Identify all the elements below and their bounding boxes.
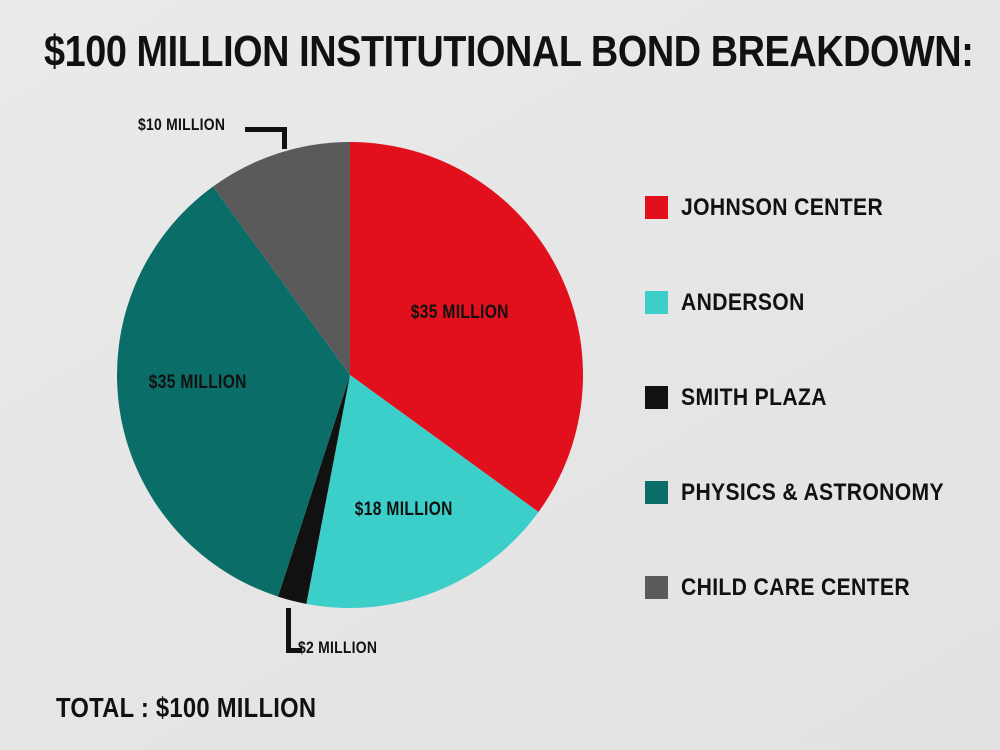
- legend-item-anderson[interactable]: ANDERSON: [645, 255, 985, 350]
- legend-item-label: SMITH PLAZA: [681, 384, 827, 412]
- callout-leader-child-care-horizontal: [245, 127, 287, 132]
- legend-item-johnson-center[interactable]: JOHNSON CENTER: [645, 160, 985, 255]
- callout-leader-child-care-vertical: [282, 127, 287, 149]
- legend-swatch-icon: [645, 291, 668, 314]
- pie-slice-value-johnson-center: $35 MILLION: [411, 302, 509, 324]
- legend-item-physics-astronomy[interactable]: PHYSICS & ASTRONOMY: [645, 445, 985, 540]
- pie-slice-value-physics-astronomy: $35 MILLION: [149, 372, 247, 394]
- callout-leader-smith-plaza-vertical: [286, 608, 291, 653]
- bond-breakdown-infographic: $100 MILLION INSTITUTIONAL BOND BREAKDOW…: [0, 0, 1000, 750]
- legend-swatch-icon: [645, 196, 668, 219]
- legend-item-label: JOHNSON CENTER: [681, 194, 883, 222]
- legend-swatch-icon: [645, 481, 668, 504]
- legend-swatch-icon: [645, 576, 668, 599]
- legend-item-smith-plaza[interactable]: SMITH PLAZA: [645, 350, 985, 445]
- legend-item-label: ANDERSON: [681, 289, 805, 317]
- total-label: TOTAL : $100 MILLION: [56, 692, 316, 724]
- legend-item-label: CHILD CARE CENTER: [681, 574, 910, 602]
- pie-chart: $35 MILLION $35 MILLION $18 MILLION: [0, 0, 700, 700]
- legend-item-child-care-center[interactable]: CHILD CARE CENTER: [645, 540, 985, 635]
- pie-chart-svg: [0, 0, 700, 700]
- legend-swatch-icon: [645, 386, 668, 409]
- pie-slice-value-anderson: $18 MILLION: [355, 499, 453, 521]
- legend: JOHNSON CENTER ANDERSON SMITH PLAZA PHYS…: [645, 160, 985, 635]
- callout-label-smith-plaza: $2 MILLION: [298, 638, 377, 658]
- legend-item-label: PHYSICS & ASTRONOMY: [681, 479, 944, 507]
- callout-label-child-care-center: $10 MILLION: [138, 115, 225, 135]
